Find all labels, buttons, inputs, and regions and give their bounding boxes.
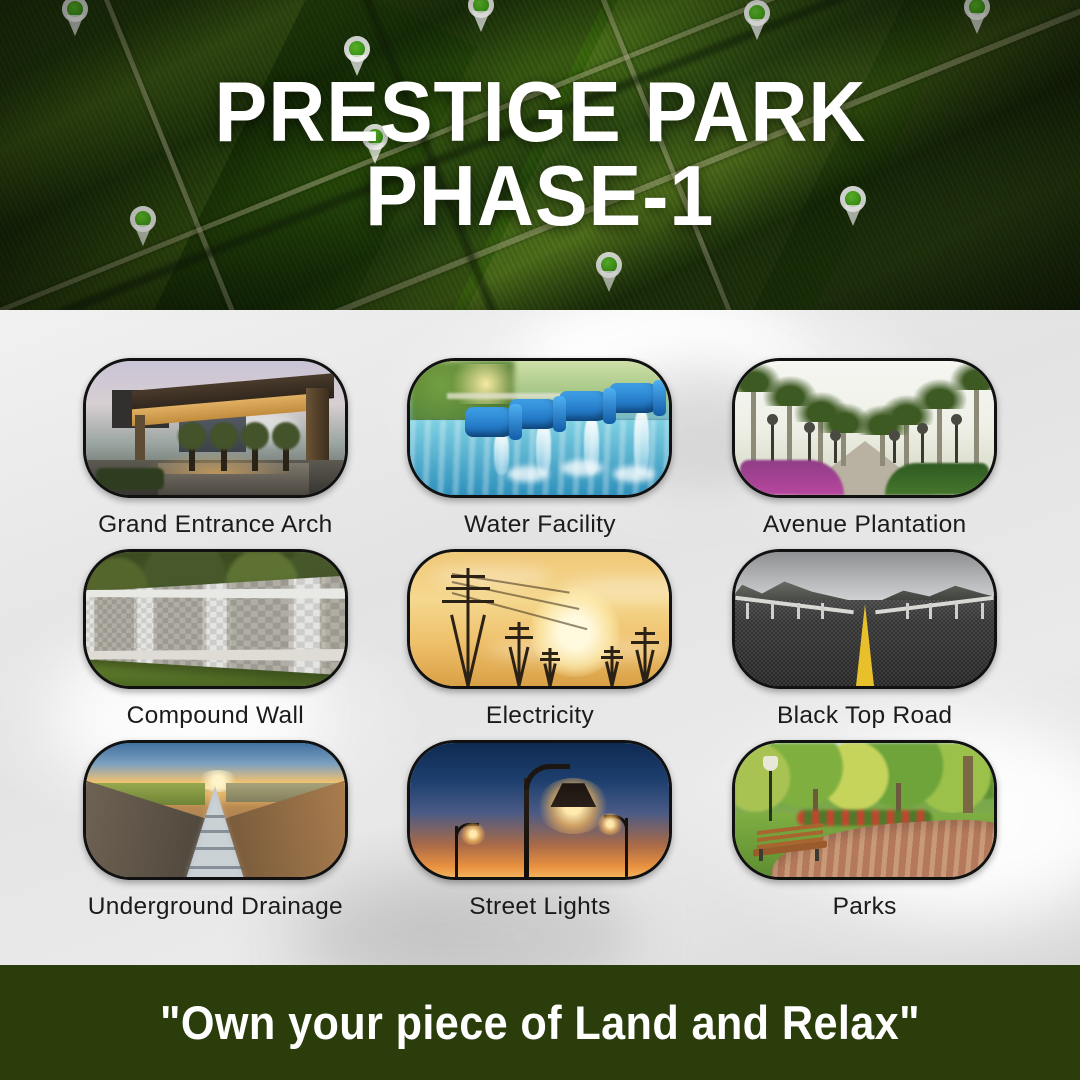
promotional-poster: PRESTIGE PARK PHASE-1 xyxy=(0,0,1080,1080)
amenities-section: Grand Entrance Arch xyxy=(0,310,1080,965)
amenity-card-street-lights[interactable]: Street Lights xyxy=(385,740,696,921)
amenities-grid: Grand Entrance Arch xyxy=(0,310,1080,921)
poster-footer-banner: "Own your piece of Land and Relax" xyxy=(0,965,1080,1080)
amenity-image-electricity xyxy=(407,549,672,689)
amenity-label: Grand Entrance Arch xyxy=(98,511,333,539)
amenity-card-parks[interactable]: Parks xyxy=(709,740,1020,921)
amenity-label: Water Facility xyxy=(464,511,616,539)
amenity-image-street-lights xyxy=(407,740,672,880)
footer-tagline: "Own your piece of Land and Relax" xyxy=(160,995,920,1050)
amenity-image-water-facility xyxy=(407,358,672,498)
poster-title-line-2: PHASE-1 xyxy=(365,155,714,239)
amenity-image-black-top-road xyxy=(732,549,997,689)
amenity-image-parks xyxy=(732,740,997,880)
amenity-card-compound-wall[interactable]: Compound Wall xyxy=(60,549,371,730)
amenity-card-water-facility[interactable]: Water Facility xyxy=(385,358,696,539)
amenity-image-compound-wall xyxy=(83,549,348,689)
amenity-image-grand-entrance-arch xyxy=(83,358,348,498)
poster-title-block: PRESTIGE PARK PHASE-1 xyxy=(0,0,1080,310)
amenity-label: Compound Wall xyxy=(127,702,304,730)
amenity-card-electricity[interactable]: Electricity xyxy=(385,549,696,730)
amenity-image-underground-drainage xyxy=(83,740,348,880)
amenity-card-grand-entrance-arch[interactable]: Grand Entrance Arch xyxy=(60,358,371,539)
amenity-card-black-top-road[interactable]: Black Top Road xyxy=(709,549,1020,730)
amenity-label: Electricity xyxy=(486,702,594,730)
poster-header: PRESTIGE PARK PHASE-1 xyxy=(0,0,1080,310)
amenity-label: Avenue Plantation xyxy=(763,511,967,539)
amenity-card-underground-drainage[interactable]: Underground Drainage xyxy=(60,740,371,921)
amenity-label: Black Top Road xyxy=(777,702,952,730)
amenity-label: Street Lights xyxy=(469,893,610,921)
amenity-label: Parks xyxy=(833,893,897,921)
amenity-label: Underground Drainage xyxy=(88,893,343,921)
amenity-image-avenue-plantation xyxy=(732,358,997,498)
amenity-card-avenue-plantation[interactable]: Avenue Plantation xyxy=(709,358,1020,539)
poster-title-line-1: PRESTIGE PARK xyxy=(214,71,866,155)
